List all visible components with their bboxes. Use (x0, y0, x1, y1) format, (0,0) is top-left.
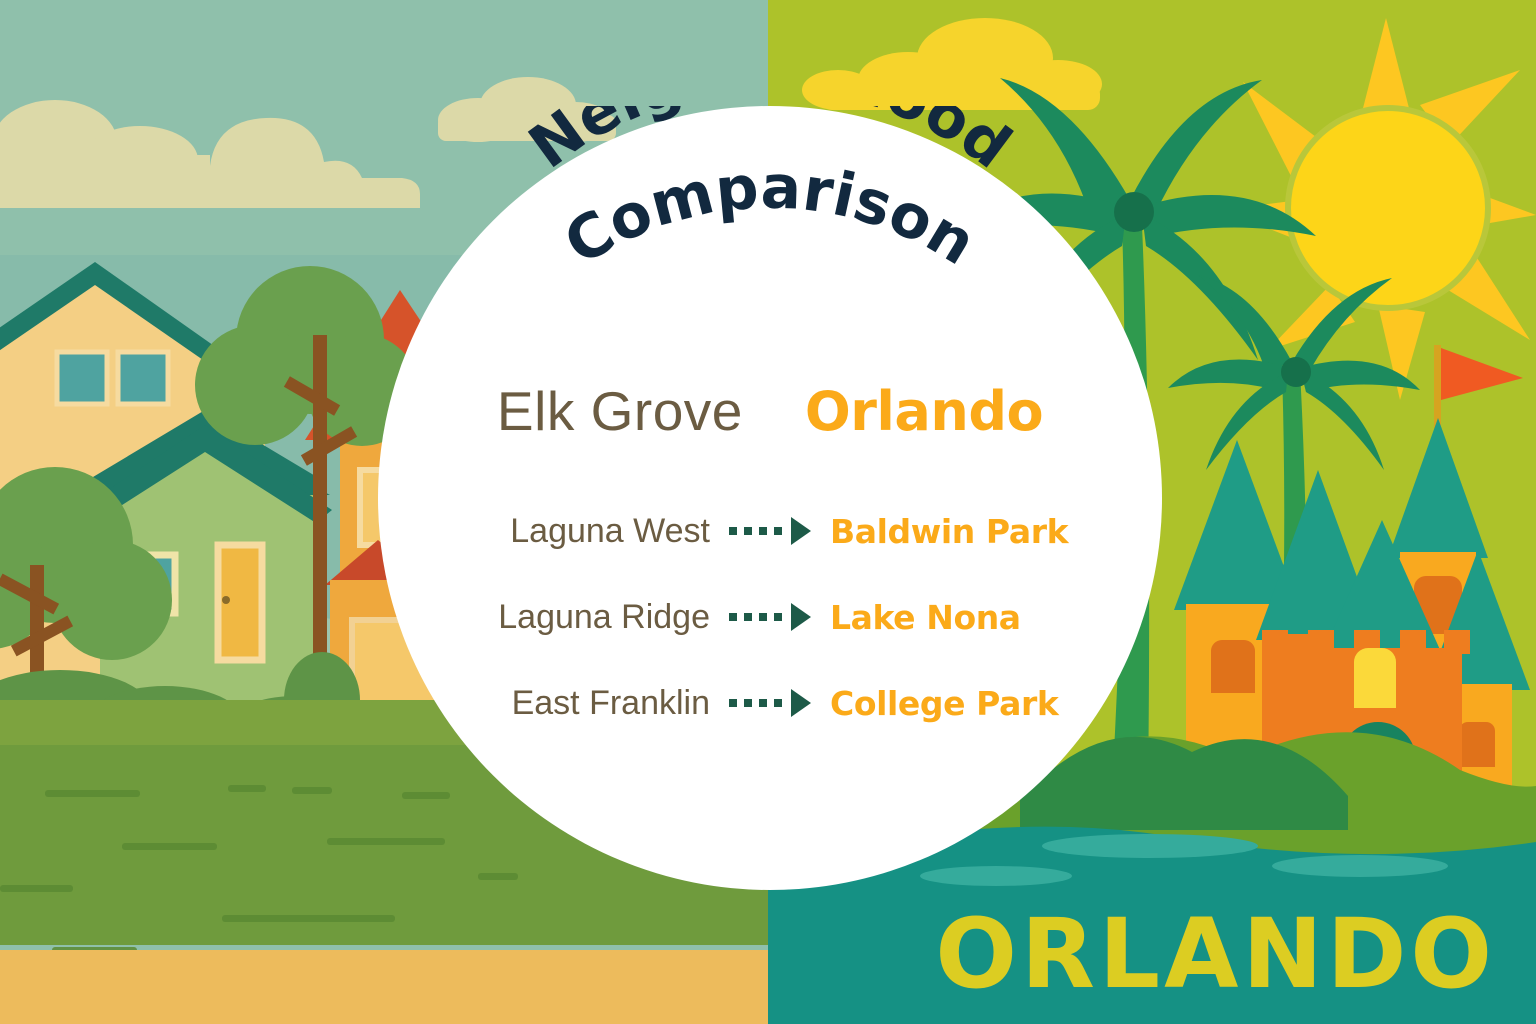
window-icon (118, 352, 168, 404)
badge-title: Neighborhood Comparison (378, 106, 1162, 396)
infographic-canvas: Neighborhood Comparison Elk Grove Orland… (0, 0, 1536, 1024)
doorknob-icon (222, 596, 230, 604)
sand-strip (0, 950, 768, 1024)
title-line-2: Comparison (553, 152, 987, 279)
window-icon (57, 352, 107, 404)
